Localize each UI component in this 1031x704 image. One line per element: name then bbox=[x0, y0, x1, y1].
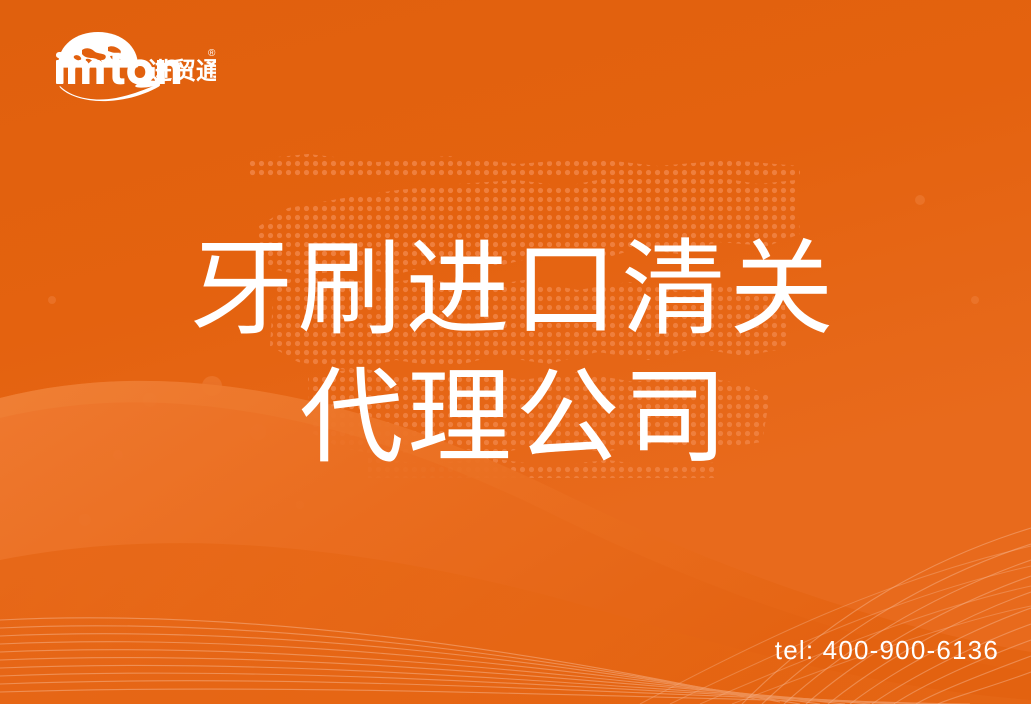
registered-trademark-icon: ® bbox=[208, 48, 216, 59]
brand-logo-artwork: 进贸通 ® bbox=[36, 26, 216, 102]
logo-chinese-name: 进贸通 bbox=[148, 58, 216, 85]
contact-phone[interactable]: tel: 400-900-6136 bbox=[775, 635, 999, 666]
poster-canvas: 进贸通 ® 牙刷进口清关 代理公司 tel: 400-900-6136 bbox=[0, 0, 1031, 704]
poster-headline: 牙刷进口清关 代理公司 bbox=[0, 226, 1031, 482]
headline-line-1: 牙刷进口清关 bbox=[0, 226, 1031, 354]
headline-line-2: 代理公司 bbox=[0, 354, 1031, 482]
brand-logo[interactable]: 进贸通 ® bbox=[36, 26, 216, 102]
